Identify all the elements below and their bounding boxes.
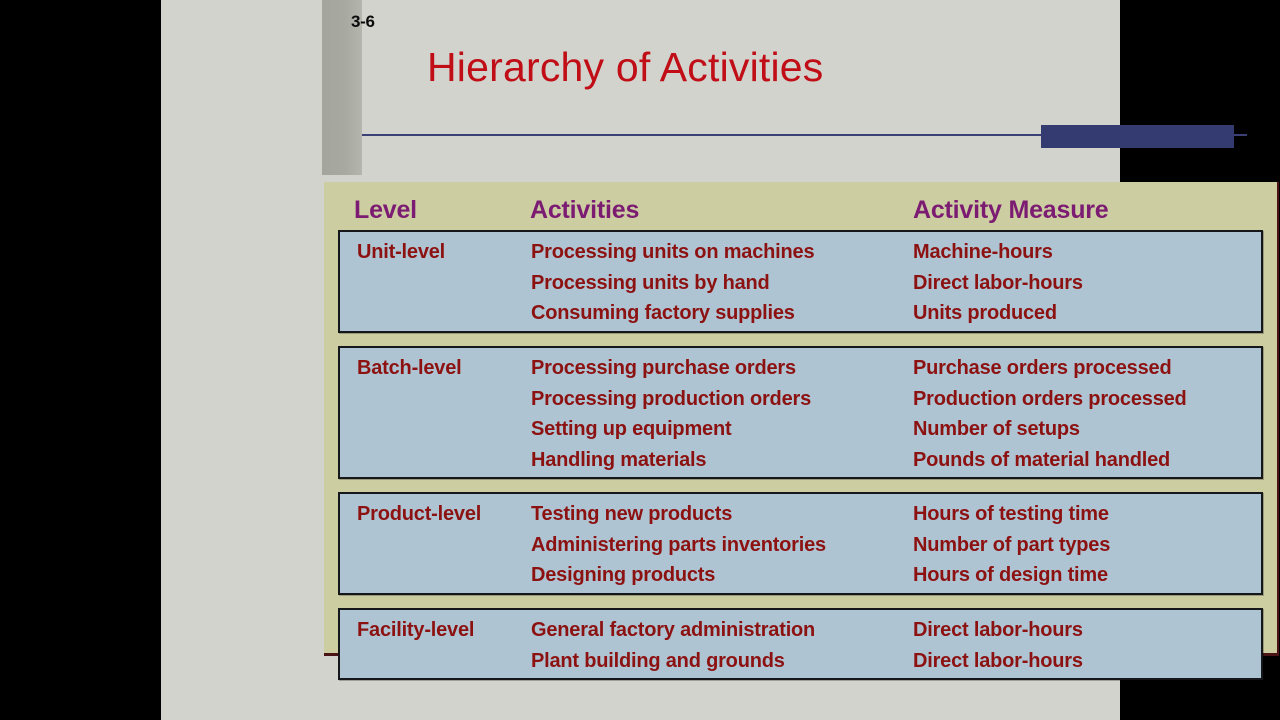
cell-activities: General factory administrationPlant buil… — [531, 615, 815, 676]
page-title: Hierarchy of Activities — [427, 44, 824, 91]
activity-line: General factory administration — [531, 615, 815, 646]
activity-line: Administering parts inventories — [531, 530, 826, 561]
activity-measure-line: Pounds of material handled — [913, 445, 1187, 476]
cell-activities: Testing new productsAdministering parts … — [531, 499, 826, 591]
activity-line: Consuming factory supplies — [531, 298, 814, 329]
activity-measure-line: Hours of testing time — [913, 499, 1110, 530]
activity-line: Setting up equipment — [531, 414, 811, 445]
cell-level: Facility-level — [357, 615, 474, 646]
cell-level-text: Facility-level — [357, 615, 474, 646]
column-header-activities: Activities — [530, 196, 639, 225]
table-row: Unit-levelProcessing units on machinesPr… — [338, 230, 1263, 333]
cell-level-text: Unit-level — [357, 237, 445, 268]
activity-line: Designing products — [531, 560, 826, 591]
cell-activities: Processing units on machinesProcessing u… — [531, 237, 814, 329]
cell-activity-measures: Machine-hoursDirect labor-hoursUnits pro… — [913, 237, 1083, 329]
hierarchy-table-panel: Level Activities Activity Measure Unit-l… — [324, 182, 1279, 656]
activity-line: Processing purchase orders — [531, 353, 811, 384]
cell-level: Batch-level — [357, 353, 462, 384]
presentation-slide: 3-6 Hierarchy of Activities Level Activi… — [161, 0, 1120, 720]
activity-measure-line: Machine-hours — [913, 237, 1083, 268]
activity-line: Processing units on machines — [531, 237, 814, 268]
activity-measure-line: Direct labor-hours — [913, 646, 1083, 677]
activity-measure-line: Number of part types — [913, 530, 1110, 561]
cell-activity-measures: Hours of testing timeNumber of part type… — [913, 499, 1110, 591]
activity-measure-line: Hours of design time — [913, 560, 1110, 591]
title-accent-block — [1041, 125, 1234, 148]
cell-activity-measures: Direct labor-hoursDirect labor-hours — [913, 615, 1083, 676]
table-row: Facility-levelGeneral factory administra… — [338, 608, 1263, 680]
column-header-activity-measure: Activity Measure — [913, 196, 1109, 225]
activity-measure-line: Production orders processed — [913, 384, 1187, 415]
table-header-row: Level Activities Activity Measure — [324, 182, 1277, 230]
column-header-level: Level — [354, 196, 417, 225]
cell-level: Product-level — [357, 499, 481, 530]
activity-line: Plant building and grounds — [531, 646, 815, 677]
cell-level-text: Product-level — [357, 499, 481, 530]
cell-activity-measures: Purchase orders processedProduction orde… — [913, 353, 1187, 475]
activity-line: Processing units by hand — [531, 268, 814, 299]
cell-activities: Processing purchase ordersProcessing pro… — [531, 353, 811, 475]
slide-viewer: 3-6 Hierarchy of Activities Level Activi… — [0, 0, 1280, 720]
activity-measure-line: Direct labor-hours — [913, 615, 1083, 646]
cell-level: Unit-level — [357, 237, 445, 268]
activity-line: Handling materials — [531, 445, 811, 476]
table-row: Batch-levelProcessing purchase ordersPro… — [338, 346, 1263, 479]
activity-measure-line: Number of setups — [913, 414, 1187, 445]
activity-line: Processing production orders — [531, 384, 811, 415]
cell-level-text: Batch-level — [357, 353, 462, 384]
activity-line: Testing new products — [531, 499, 826, 530]
slide-number: 3-6 — [351, 12, 375, 32]
activity-measure-line: Purchase orders processed — [913, 353, 1187, 384]
activity-measure-line: Units produced — [913, 298, 1083, 329]
activity-measure-line: Direct labor-hours — [913, 268, 1083, 299]
table-row: Product-levelTesting new productsAdminis… — [338, 492, 1263, 595]
